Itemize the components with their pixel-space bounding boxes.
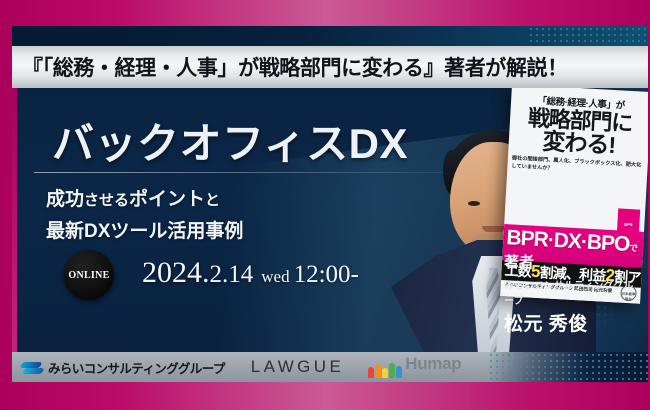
date-weekday: wed xyxy=(261,267,289,286)
subtitle-small-1: させる xyxy=(84,192,129,209)
humap-people-icon xyxy=(368,363,402,378)
person-glyph-4 xyxy=(389,363,395,378)
subtitle-strong-2: ポイント xyxy=(129,189,205,210)
logo-bar-dots-decor xyxy=(488,352,648,382)
person-glyph-1 xyxy=(368,367,374,378)
date-year: 2024. xyxy=(142,256,210,289)
halftone-dots-decor xyxy=(528,26,648,46)
event-date: 2024.2.14 wed 12:00- xyxy=(142,256,359,290)
top-navy-strip xyxy=(12,26,648,46)
swoosh-stroke-2 xyxy=(22,368,45,374)
mirai-logo-text: みらいコンサルティンググループ xyxy=(48,358,225,377)
eye-left-decor xyxy=(468,201,480,206)
main-body: バックオフィスDX 成功させるポイントと 最新DXツール活用事例 ONLINE … xyxy=(12,88,648,352)
subtitle-strong-1: 成功 xyxy=(46,189,84,210)
online-badge: ONLINE xyxy=(64,250,114,300)
left-accent-bar xyxy=(12,88,17,352)
headline-text: 『「総務・経理・人事」が戦略部門に変わる』著者が解説！ xyxy=(12,52,568,82)
speaker-organization: みらいコンサルティンググループ xyxy=(504,277,634,307)
humap-logo-text: Humap xyxy=(405,356,461,372)
online-badge-label: ONLINE xyxy=(68,270,109,281)
humap-logo: Humap Presented by Aunarq xyxy=(368,356,461,377)
mouth-decor xyxy=(482,226,506,232)
book-blurb: 御社の間接部門、属人化、ブラックボックス化、肥大化していませんか？ xyxy=(511,156,644,179)
speaker-role: 著者 xyxy=(504,251,634,272)
speaker-credit: 著者 みらいコンサルティンググループ 松元 秀俊 xyxy=(504,251,634,336)
mirai-swoosh-icon xyxy=(21,359,43,375)
book-title-group: 「総務·経理·人事」が 戦略部門に 変わる! xyxy=(508,88,648,159)
headline-bar: 『「総務・経理・人事」が戦略部門に変わる』著者が解説！ xyxy=(12,46,648,88)
content-panel: 『「総務・経理・人事」が戦略部門に変わる』著者が解説！ バックオフィスDX 成功… xyxy=(12,26,648,382)
webinar-banner: 『「総務・経理・人事」が戦略部門に変わる』著者が解説！ バックオフィスDX 成功… xyxy=(0,0,650,410)
humap-text-group: Humap Presented by Aunarq xyxy=(405,356,461,377)
speaker-name: 松元 秀俊 xyxy=(504,309,634,336)
subtitle-line-1: 成功させるポイントと xyxy=(46,184,220,211)
subtitle-line-2: 最新DXツール活用事例 xyxy=(46,216,243,243)
subtitle-small-2: と xyxy=(205,192,220,209)
person-glyph-5 xyxy=(396,366,402,378)
page-title: バックオフィスDX xyxy=(52,110,408,171)
person-glyph-3 xyxy=(382,368,388,378)
date-month-day: 2.14 xyxy=(210,261,254,288)
mirai-logo: みらいコンサルティンググループ xyxy=(12,358,225,377)
lawgue-logo: LAWGUE xyxy=(251,357,344,377)
person-glyph-2 xyxy=(375,364,381,378)
date-time: 12:00- xyxy=(294,261,359,288)
humap-tagline: Presented by Aunarq xyxy=(405,373,461,378)
logo-bar: みらいコンサルティンググループ LAWGUE Humap Presented b… xyxy=(12,352,648,382)
